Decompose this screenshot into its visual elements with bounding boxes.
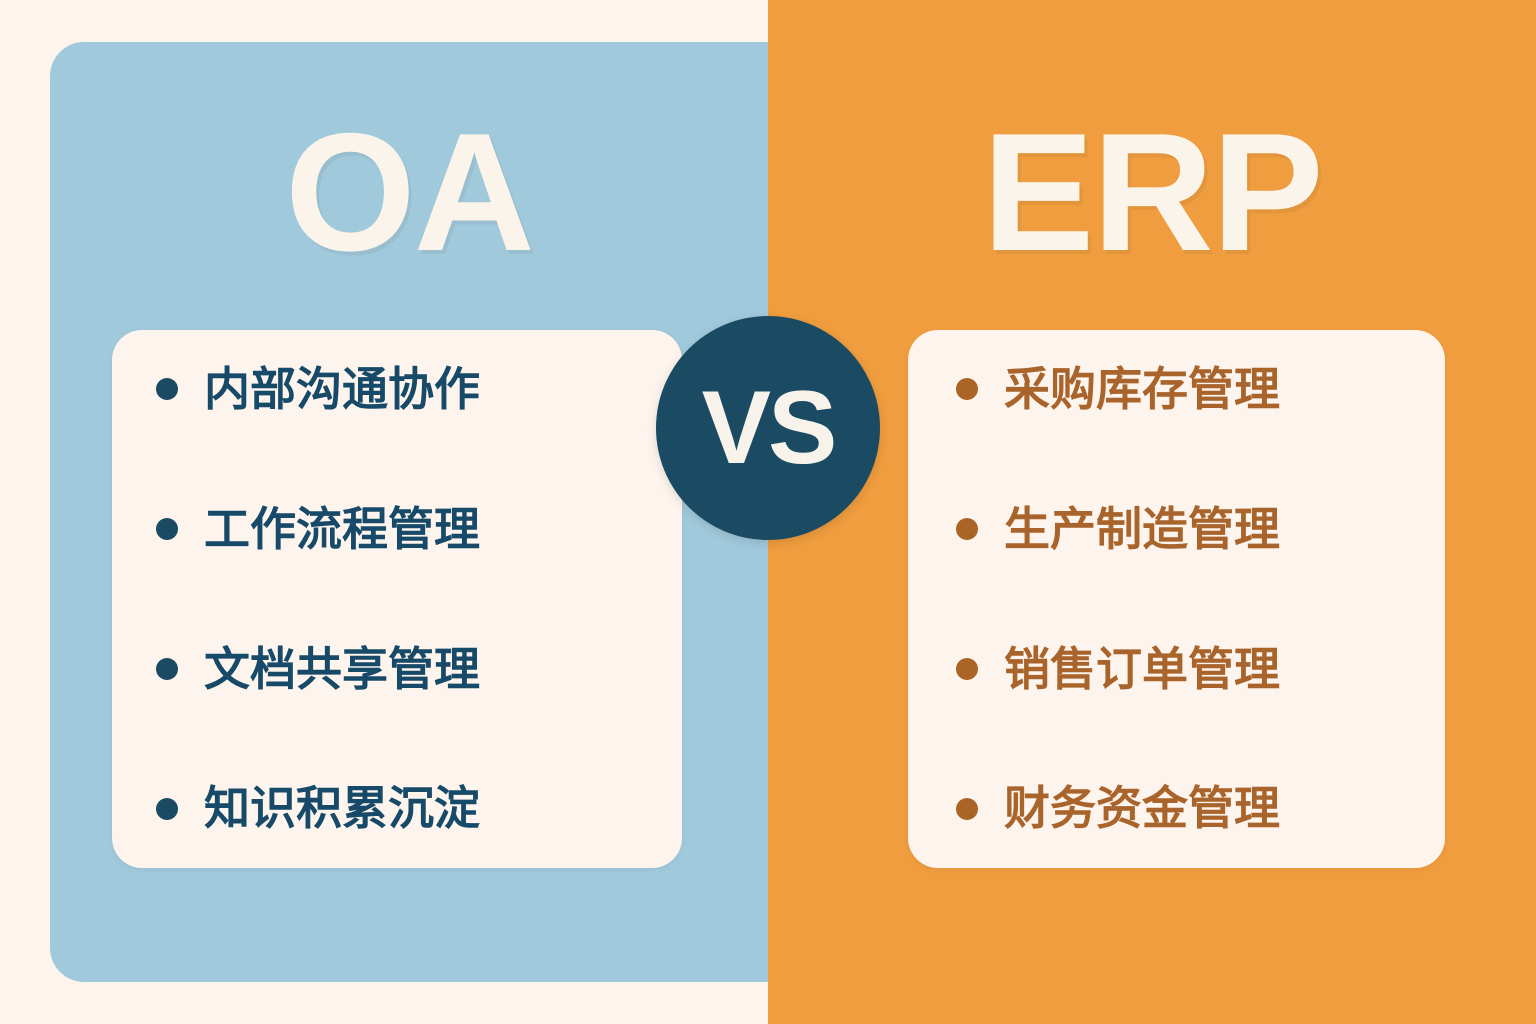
oa-feature-card: 内部沟通协作 工作流程管理 文档共享管理 知识积累沉淀: [112, 330, 682, 868]
list-item: 生产制造管理: [956, 504, 1421, 555]
oa-feature-label: 文档共享管理: [204, 644, 480, 695]
erp-feature-label: 财务资金管理: [1004, 783, 1280, 834]
comparison-infographic: OA 内部沟通协作 工作流程管理 文档共享管理 知识积累沉淀 ERP: [0, 0, 1536, 1024]
erp-title: ERP: [768, 108, 1536, 276]
oa-feature-list: 内部沟通协作 工作流程管理 文档共享管理 知识积累沉淀: [156, 364, 652, 834]
list-item: 财务资金管理: [956, 783, 1421, 834]
erp-feature-card: 采购库存管理 生产制造管理 销售订单管理 财务资金管理: [908, 330, 1445, 868]
list-item: 知识积累沉淀: [156, 783, 652, 834]
bullet-icon: [956, 378, 978, 400]
oa-title: OA: [50, 108, 768, 276]
list-item: 销售订单管理: [956, 644, 1421, 695]
oa-feature-label: 内部沟通协作: [204, 364, 480, 415]
vs-badge: VS: [656, 316, 880, 540]
erp-feature-label: 采购库存管理: [1004, 364, 1280, 415]
oa-feature-label: 知识积累沉淀: [204, 783, 480, 834]
list-item: 文档共享管理: [156, 644, 652, 695]
list-item: 采购库存管理: [956, 364, 1421, 415]
bullet-icon: [156, 518, 178, 540]
erp-feature-label: 销售订单管理: [1004, 644, 1280, 695]
list-item: 工作流程管理: [156, 504, 652, 555]
oa-feature-label: 工作流程管理: [204, 504, 480, 555]
vs-label: VS: [702, 376, 835, 480]
bullet-icon: [156, 798, 178, 820]
bullet-icon: [156, 658, 178, 680]
erp-feature-label: 生产制造管理: [1004, 504, 1280, 555]
bullet-icon: [956, 798, 978, 820]
bullet-icon: [956, 518, 978, 540]
list-item: 内部沟通协作: [156, 364, 652, 415]
bullet-icon: [956, 658, 978, 680]
erp-feature-list: 采购库存管理 生产制造管理 销售订单管理 财务资金管理: [956, 364, 1421, 834]
bullet-icon: [156, 378, 178, 400]
